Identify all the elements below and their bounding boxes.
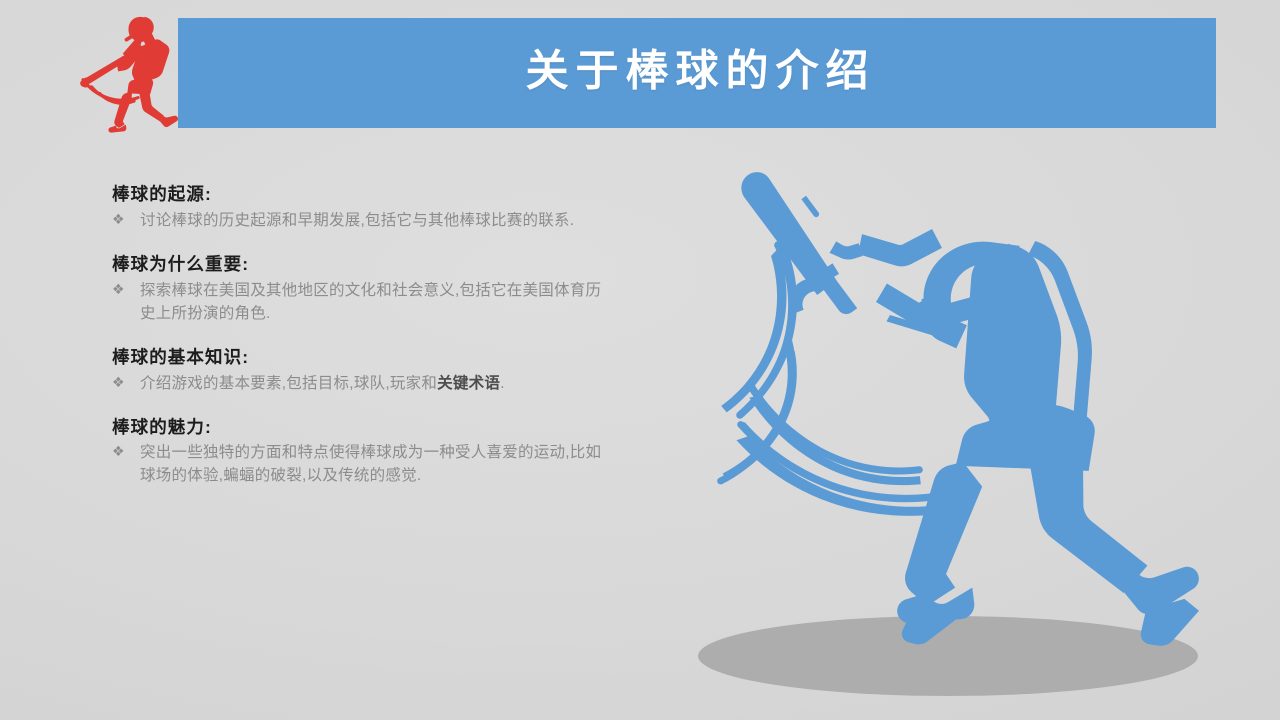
back-leg — [1030, 459, 1148, 593]
page-title: 关于棒球的介绍 — [178, 48, 1216, 95]
bullet-item: ❖ 探索棒球在美国及其他地区的文化和社会意义,包括它在美国体育历史上所扮演的角色… — [112, 279, 612, 325]
diamond-bullet-icon: ❖ — [112, 209, 140, 232]
bullet-item: ❖ 讨论棒球的历史起源和早期发展,包括它与其他棒球比赛的联系. — [112, 209, 612, 232]
content-block-basics: 棒球的基本知识: ❖ 介绍游戏的基本要素,包括目标,球队,玩家和关键术语. — [112, 345, 612, 395]
bullet-text: 突出一些独特的方面和特点使得棒球成为一种受人喜爱的运动,比如球场的体验,蝙蝠的破… — [140, 441, 612, 487]
content-block-appeal: 棒球的魅力: ❖ 突出一些独特的方面和特点使得棒球成为一种受人喜爱的运动,比如球… — [112, 415, 612, 488]
bullet-text-post: . — [500, 375, 505, 392]
blue-baseball-batter-silhouette — [676, 158, 1224, 706]
block-heading: 棒球的魅力: — [112, 415, 612, 440]
diamond-bullet-icon: ❖ — [112, 279, 140, 302]
bullet-item: ❖ 介绍游戏的基本要素,包括目标,球队,玩家和关键术语. — [112, 372, 612, 395]
bullet-text-emphasis: 关键术语 — [437, 375, 500, 392]
bullet-text: 讨论棒球的历史起源和早期发展,包括它与其他棒球比赛的联系. — [140, 209, 612, 232]
bullet-text: 介绍游戏的基本要素,包括目标,球队,玩家和关键术语. — [140, 372, 612, 395]
title-banner: 关于棒球的介绍 — [178, 18, 1216, 128]
lead-arm — [858, 229, 942, 266]
diamond-bullet-icon: ❖ — [112, 372, 140, 395]
red-baseball-batter-logo — [52, 8, 212, 136]
diamond-bullet-icon: ❖ — [112, 441, 140, 464]
slide-canvas: 关于棒球的介绍 — [0, 0, 1280, 720]
ground-shadow — [698, 616, 1198, 696]
bullet-text: 探索棒球在美国及其他地区的文化和社会意义,包括它在美国体育历史上所扮演的角色. — [140, 279, 612, 325]
content-block-importance: 棒球为什么重要: ❖ 探索棒球在美国及其他地区的文化和社会意义,包括它在美国体育… — [112, 252, 612, 325]
bullet-item: ❖ 突出一些独特的方面和特点使得棒球成为一种受人喜爱的运动,比如球场的体验,蝙蝠… — [112, 441, 612, 487]
content-column: 棒球的起源: ❖ 讨论棒球的历史起源和早期发展,包括它与其他棒球比赛的联系. 棒… — [112, 182, 612, 487]
content-block-origin: 棒球的起源: ❖ 讨论棒球的历史起源和早期发展,包括它与其他棒球比赛的联系. — [112, 182, 612, 232]
bullet-text-pre: 介绍游戏的基本要素,包括目标,球队,玩家和 — [140, 375, 437, 392]
block-heading: 棒球的起源: — [112, 182, 612, 207]
block-heading: 棒球的基本知识: — [112, 345, 612, 370]
block-heading: 棒球为什么重要: — [112, 252, 612, 277]
